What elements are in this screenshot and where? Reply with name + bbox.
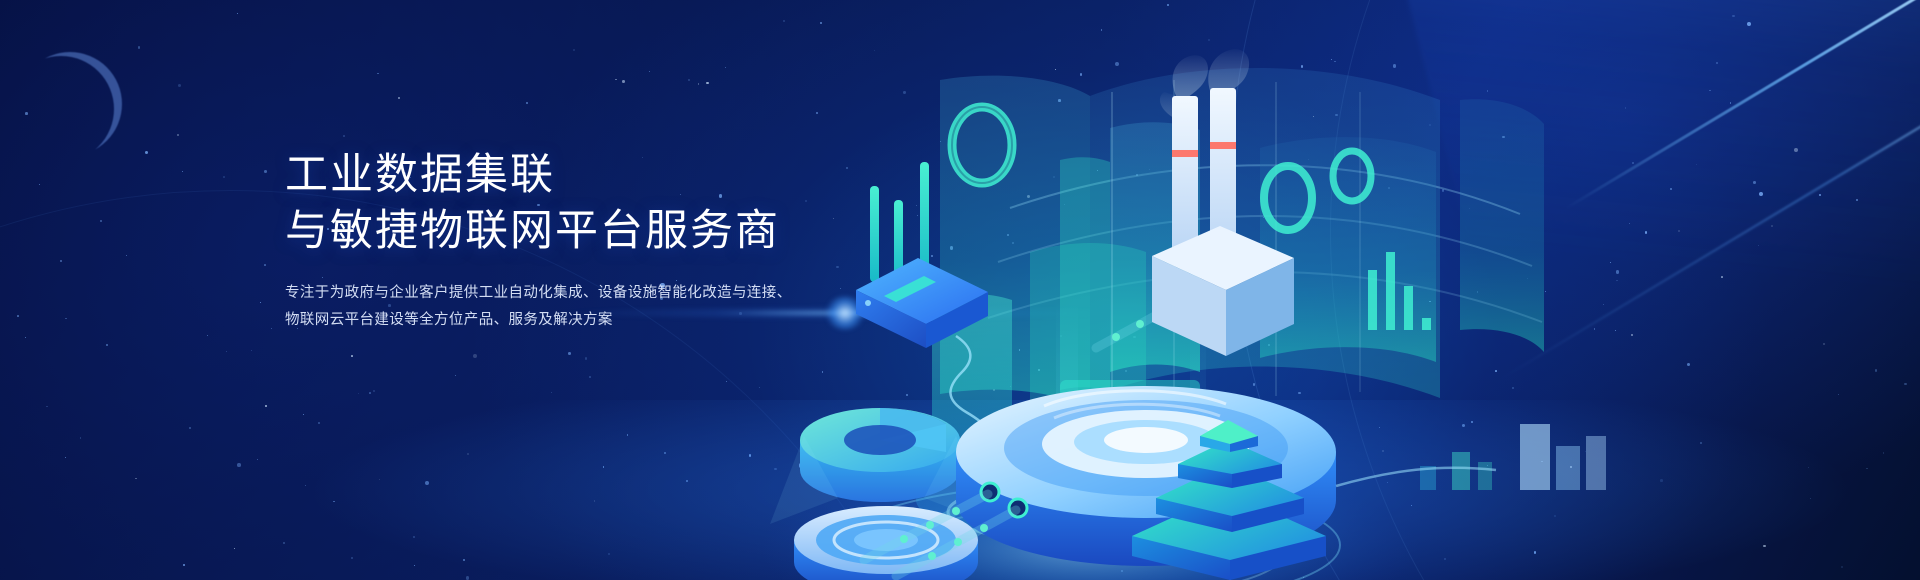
star-particle [264, 264, 266, 266]
star-particle [251, 350, 252, 351]
subtitle-line-1: 专注于为政府与企业客户提供工业自动化集成、设备设施智能化改造与连接、 [285, 280, 807, 307]
bar-2 [1386, 252, 1395, 330]
star-particle [182, 171, 183, 172]
bar-3 [1404, 286, 1413, 330]
star-particle [688, 79, 690, 81]
star-particle [60, 260, 62, 262]
star-particle [17, 315, 19, 317]
star-particle [377, 73, 379, 75]
star-particle [65, 318, 67, 320]
hero-banner: 工业数据集联 与敏捷物联网平台服务商 专注于为政府与企业客户提供工业自动化集成、… [0, 0, 1920, 580]
chimney-band-right [1210, 142, 1236, 149]
star-particle [373, 390, 375, 392]
star-particle [622, 80, 625, 83]
star-particle [178, 84, 181, 87]
illustration-svg [760, 0, 1920, 580]
star-particle [260, 302, 262, 304]
bar-1 [1368, 270, 1377, 330]
star-particle [369, 392, 371, 394]
star-particle [706, 82, 709, 85]
star-particle [237, 13, 238, 14]
star-particle [585, 357, 588, 360]
bar-4 [1422, 318, 1431, 330]
star-particle [271, 328, 272, 329]
star-particle [177, 134, 179, 136]
router-led-dot [865, 300, 871, 306]
right-city-strip [1420, 424, 1606, 490]
star-particle [100, 220, 102, 222]
star-particle [473, 354, 477, 358]
star-particle [226, 351, 227, 352]
chimney-left [1172, 96, 1198, 260]
star-particle [138, 46, 141, 49]
panel-back-right [1460, 99, 1544, 352]
isometric-iot-illustration [760, 0, 1920, 580]
star-particle [398, 97, 401, 100]
star-particle [455, 375, 457, 377]
star-particle [726, 381, 727, 382]
star-particle [223, 176, 225, 178]
star-particle [551, 392, 552, 393]
star-particle [358, 393, 359, 394]
connection-cable-right [1336, 468, 1496, 486]
subtitle-line-2: 物联网云平台建设等全方位产品、服务及解决方案 [285, 307, 807, 334]
star-particle [145, 151, 148, 154]
star-particle [526, 102, 528, 104]
star-particle [351, 355, 353, 357]
star-particle [573, 49, 575, 51]
star-particle [207, 335, 208, 336]
star-particle [589, 376, 591, 378]
star-particle [568, 352, 571, 355]
hero-subtitle: 专注于为政府与企业客户提供工业自动化集成、设备设施智能化改造与连接、 物联网云平… [285, 280, 807, 334]
star-particle [106, 344, 108, 346]
chimney-band-left [1172, 150, 1198, 157]
star-particle [25, 337, 26, 338]
disc-core [1104, 427, 1188, 453]
star-particle [39, 184, 40, 185]
cylinder-hole [844, 425, 916, 455]
star-particle [126, 255, 127, 256]
star-particle [264, 170, 267, 173]
star-particle [343, 135, 345, 137]
crescent-moon-icon [18, 52, 122, 156]
star-particle [649, 71, 650, 72]
star-particle [698, 83, 700, 85]
star-particle [615, 79, 617, 81]
star-particle [725, 67, 726, 68]
